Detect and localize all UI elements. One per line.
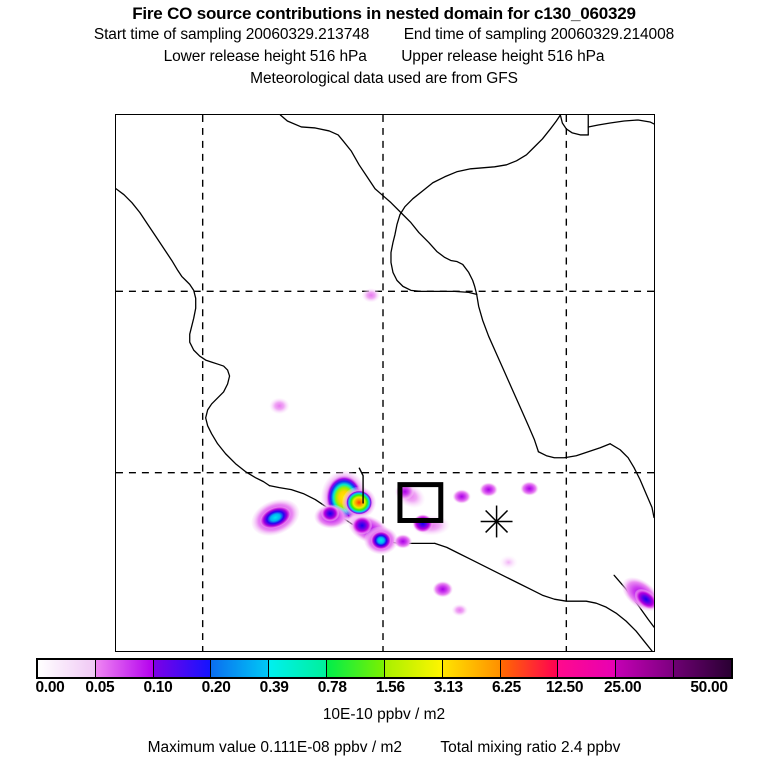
- colorbar-tick-3: 0.20: [202, 679, 231, 697]
- colorbar-segment-8: [501, 660, 559, 677]
- coastline-yucatan-west: [477, 294, 539, 451]
- met-data-row: Meteorological data used are from GFS: [0, 68, 768, 90]
- met-data-label: Meteorological data used are from GFS: [250, 70, 518, 87]
- coastline-gulf-east: [391, 115, 560, 294]
- plume-blob: [500, 555, 518, 569]
- colorbar-tick-8: 6.25: [492, 679, 521, 697]
- colorbar-tick-1: 0.05: [85, 679, 114, 697]
- colorbar-segment-9: [558, 660, 616, 677]
- station-asterisk-icon: [481, 506, 513, 538]
- coastline-pacific-south: [435, 543, 652, 651]
- map-plot-area: [115, 114, 655, 652]
- plume-blob: [371, 531, 391, 549]
- coastline-caribbean: [610, 444, 654, 518]
- colorbar-tick-11: 50.00: [690, 679, 727, 697]
- plume-blob: [346, 491, 372, 515]
- colorbar-tick-2: 0.10: [143, 679, 172, 697]
- plume-blob: [433, 581, 453, 597]
- release-height-row: Lower release height 516 hPa Upper relea…: [0, 46, 768, 68]
- coastline-gulf-north: [588, 120, 654, 127]
- colorbar-segment-5: [327, 660, 385, 677]
- maximum-value-label: Maximum value 0.111E-08 ppbv / m2: [148, 739, 402, 756]
- colorbar-tick-7: 3.13: [434, 679, 463, 697]
- colorbar: [36, 658, 733, 679]
- upper-release-height-label: Upper release height 516 hPa: [401, 48, 604, 65]
- lower-release-height-label: Lower release height 516 hPa: [164, 48, 367, 65]
- coastline-texas-notch: [560, 115, 588, 135]
- map-gridlines: [116, 115, 654, 651]
- total-mixing-ratio-label: Total mixing ratio 2.4 ppbv: [440, 739, 620, 756]
- plume-blob: [480, 483, 498, 497]
- map-canvas: [116, 115, 654, 651]
- colorbar-segment-7: [443, 660, 501, 677]
- coastline-baja-west: [116, 189, 269, 486]
- figure-footer: Maximum value 0.111E-08 ppbv / m2 Total …: [0, 738, 768, 758]
- colorbar-segment-2: [154, 660, 212, 677]
- plume-blob: [362, 288, 380, 302]
- colorbar-segment-10: [616, 660, 674, 677]
- colorbar-tick-4: 0.39: [260, 679, 289, 697]
- coastline-yucatan-south: [538, 444, 610, 458]
- figure-header: Fire CO source contributions in nested d…: [0, 0, 768, 90]
- coastline-gulf-west: [280, 115, 476, 294]
- sampling-time-row: Start time of sampling 20060329.213748 E…: [0, 24, 768, 46]
- plume-layer: [246, 288, 654, 618]
- end-time-label: End time of sampling 20060329.214008: [404, 26, 674, 43]
- colorbar-segment-4: [269, 660, 327, 677]
- colorbar-segment-6: [385, 660, 443, 677]
- page-title: Fire CO source contributions in nested d…: [0, 0, 768, 24]
- coastline-layer: [116, 115, 654, 651]
- colorbar-segment-0: [38, 660, 96, 677]
- colorbar-tick-9: 12.50: [546, 679, 583, 697]
- colorbar-tick-10: 25.00: [604, 679, 641, 697]
- plume-blob: [394, 534, 412, 548]
- plume-blob: [452, 604, 468, 616]
- colorbar-tick-labels: 0.000.050.100.200.390.781.563.136.2512.5…: [0, 679, 768, 699]
- figure-page: Fire CO source contributions in nested d…: [0, 0, 768, 768]
- start-time-label: Start time of sampling 20060329.213748: [94, 26, 369, 43]
- plume-blob: [520, 482, 538, 496]
- plume-blob: [321, 506, 339, 522]
- colorbar-tick-6: 1.56: [376, 679, 405, 697]
- plume-blob: [453, 490, 471, 504]
- plume-blob: [413, 515, 433, 533]
- plume-blob: [269, 398, 289, 414]
- colorbar-tick-5: 0.78: [318, 679, 347, 697]
- colorbar-segment-1: [96, 660, 154, 677]
- colorbar-segment-3: [211, 660, 269, 677]
- colorbar-unit-label: 10E-10 ppbv / m2: [0, 705, 768, 725]
- colorbar-segment-11: [674, 660, 731, 677]
- colorbar-tick-0: 0.00: [36, 679, 65, 697]
